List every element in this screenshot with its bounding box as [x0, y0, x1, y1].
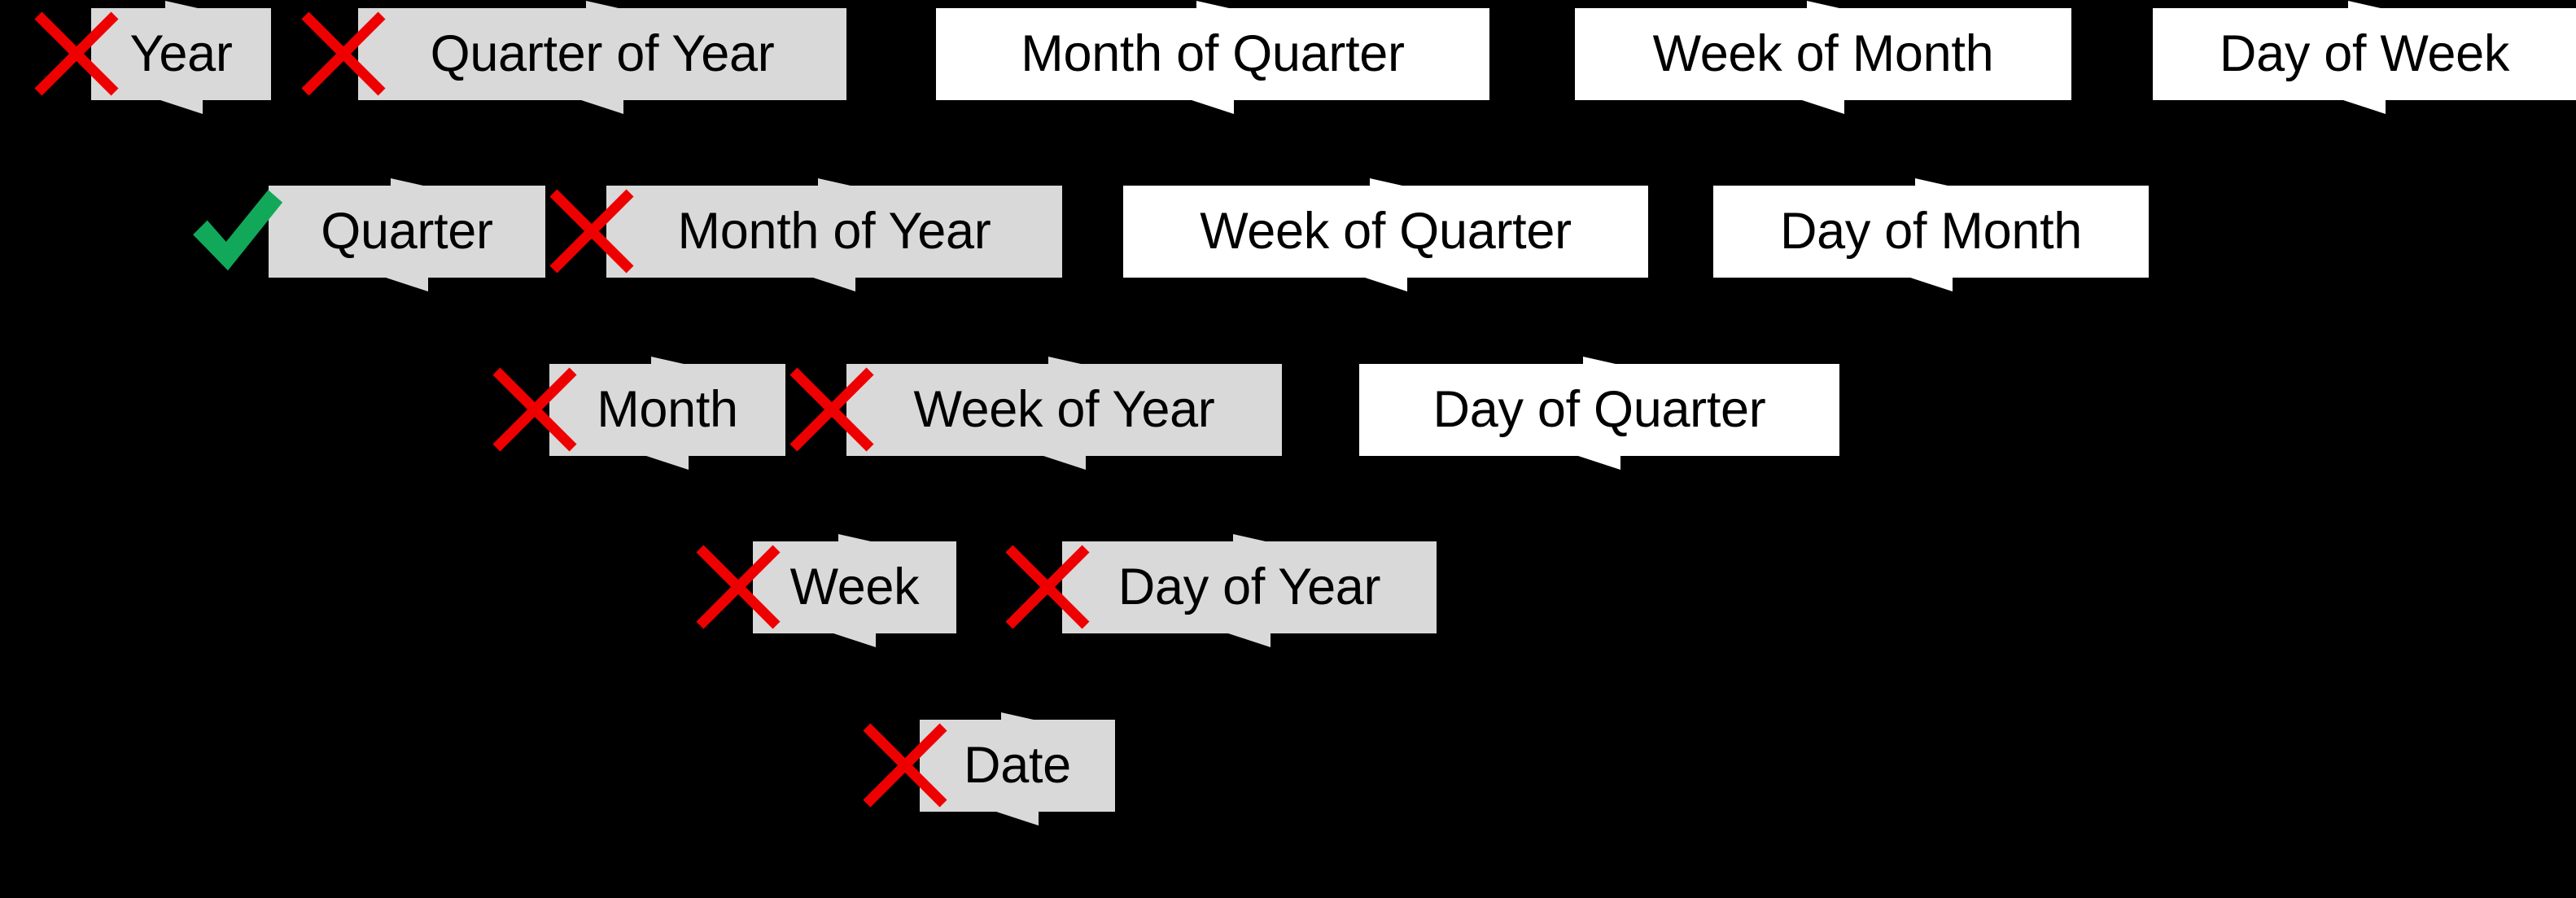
- date-part-label: Week: [790, 562, 920, 613]
- date-part-box-month[interactable]: Month: [549, 364, 785, 456]
- date-part-box-week-of-quarter[interactable]: Week of Quarter: [1123, 186, 1648, 278]
- date-part-label: Week of Quarter: [1200, 206, 1572, 257]
- date-part-label: Day of Quarter: [1433, 384, 1766, 436]
- box-bottom-tail: [1192, 100, 1234, 114]
- box-bottom-tail: [1910, 278, 1953, 291]
- date-part-label: Month of Quarter: [1021, 28, 1404, 80]
- date-part-box-day-of-year[interactable]: Day of Year: [1062, 541, 1437, 633]
- box-bottom-tail: [386, 278, 428, 291]
- date-part-box-year[interactable]: Year: [91, 8, 271, 100]
- date-part-box-month-of-quarter[interactable]: Month of Quarter: [936, 8, 1489, 100]
- date-part-box-day-of-week[interactable]: Day of Week: [2153, 8, 2576, 100]
- box-bottom-tail: [646, 456, 689, 470]
- date-part-box-quarter-of-year[interactable]: Quarter of Year: [358, 8, 846, 100]
- date-part-label: Quarter: [321, 206, 492, 257]
- box-bottom-tail: [160, 100, 203, 114]
- box-bottom-tail: [581, 100, 623, 114]
- box-bottom-tail: [1043, 456, 1086, 470]
- date-hierarchy-diagram: YearQuarter of YearMonth of QuarterWeek …: [0, 0, 2576, 898]
- box-bottom-tail: [1578, 456, 1620, 470]
- box-top-nick: [391, 178, 423, 186]
- date-part-label: Month: [597, 384, 738, 436]
- box-top-nick: [1915, 178, 1948, 186]
- date-part-label: Month of Year: [678, 206, 991, 257]
- date-part-label: Day of Week: [2220, 28, 2509, 80]
- box-top-nick: [1048, 357, 1081, 364]
- date-part-box-week-of-month[interactable]: Week of Month: [1575, 8, 2071, 100]
- box-bottom-tail: [1365, 278, 1407, 291]
- date-part-label: Day of Month: [1780, 206, 2082, 257]
- box-top-nick: [818, 178, 851, 186]
- box-bottom-tail: [1802, 100, 1844, 114]
- hierarchy-row-2: MonthWeek of YearDay of Quarter: [0, 364, 2576, 488]
- date-part-label: Date: [964, 740, 1071, 791]
- date-part-label: Day of Year: [1118, 562, 1380, 613]
- box-top-nick: [1583, 357, 1616, 364]
- box-top-nick: [1001, 712, 1034, 720]
- box-top-nick: [586, 1, 619, 8]
- box-bottom-tail: [996, 812, 1039, 826]
- date-part-label: Year: [129, 28, 232, 80]
- date-part-label: Week of Month: [1653, 28, 1994, 80]
- box-bottom-tail: [1228, 633, 1271, 647]
- hierarchy-row-1: QuarterMonth of YearWeek of QuarterDay o…: [0, 186, 2576, 309]
- box-bottom-tail: [833, 633, 876, 647]
- hierarchy-row-3: WeekDay of Year: [0, 541, 2576, 665]
- box-top-nick: [651, 357, 684, 364]
- date-part-box-date[interactable]: Date: [920, 720, 1115, 812]
- date-part-box-week[interactable]: Week: [753, 541, 956, 633]
- date-part-box-quarter[interactable]: Quarter: [269, 186, 545, 278]
- box-top-nick: [1370, 178, 1402, 186]
- box-top-nick: [1807, 1, 1839, 8]
- date-part-label: Quarter of Year: [431, 28, 775, 80]
- date-part-box-month-of-year[interactable]: Month of Year: [606, 186, 1062, 278]
- date-part-box-day-of-month[interactable]: Day of Month: [1713, 186, 2149, 278]
- hierarchy-row-0: YearQuarter of YearMonth of QuarterWeek …: [0, 8, 2576, 132]
- date-part-label: Week of Year: [913, 384, 1214, 436]
- date-part-box-week-of-year[interactable]: Week of Year: [846, 364, 1282, 456]
- hierarchy-row-4: Date: [0, 720, 2576, 843]
- box-top-nick: [838, 534, 871, 541]
- box-top-nick: [1196, 1, 1229, 8]
- box-top-nick: [165, 1, 198, 8]
- box-bottom-tail: [813, 278, 855, 291]
- box-top-nick: [1233, 534, 1266, 541]
- box-bottom-tail: [2343, 100, 2386, 114]
- date-part-box-day-of-quarter[interactable]: Day of Quarter: [1359, 364, 1839, 456]
- box-top-nick: [2348, 1, 2381, 8]
